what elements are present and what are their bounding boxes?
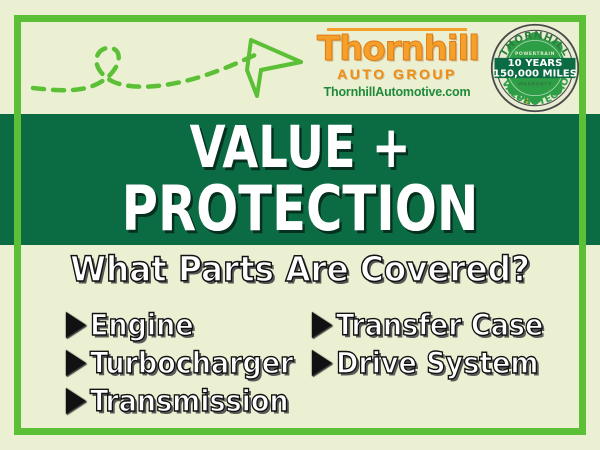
thornhill-logo: Thornhill AUTO GROUP ThornhillAutomotive… — [317, 28, 477, 100]
covered-part-label: Turbocharger — [90, 347, 293, 379]
frame-right-border — [579, 15, 586, 435]
promo-poster: Thornhill AUTO GROUP ThornhillAutomotive… — [0, 0, 600, 450]
triangle-bullet-icon — [68, 314, 85, 336]
title-line-2: PROTECTION — [122, 176, 479, 242]
badge-powertrain-text: POWERTRAIN — [515, 51, 555, 57]
frame-top-border — [14, 15, 586, 22]
covered-parts-column-right: Transfer Case Drive System — [314, 306, 559, 382]
covered-part-label: Transfer Case — [336, 309, 543, 341]
triangle-bullet-icon — [314, 314, 331, 336]
triangle-bullet-icon — [68, 352, 85, 374]
list-item: Drive System — [314, 344, 559, 382]
frame-left-border — [14, 15, 21, 435]
logo-website-url: ThornhillAutomotive.com — [317, 84, 477, 100]
badge-warranty-text: WARRANTY — [518, 81, 552, 87]
triangle-bullet-icon — [68, 390, 85, 412]
list-item: Engine — [68, 306, 309, 344]
subtitle-question: What Parts Are Covered? — [21, 250, 579, 290]
covered-parts-lists: Engine Turbocharger Transmission Transfe… — [30, 306, 570, 426]
poster-header: Thornhill AUTO GROUP ThornhillAutomotive… — [21, 22, 579, 114]
list-item: Transmission — [68, 382, 309, 420]
title-line-1: VALUE + — [190, 118, 411, 176]
badge-miles-text: 150,000 MILES — [493, 68, 577, 79]
covered-part-label: Drive System — [336, 347, 539, 379]
logo-subtitle-text: AUTO GROUP — [317, 66, 477, 82]
poster-title: VALUE + PROTECTION — [0, 114, 600, 245]
covered-part-label: Transmission — [90, 385, 289, 417]
frame-bottom-border — [14, 428, 586, 435]
warranty-seal-badge: THORNHILL VALUE + PROTECTION POWERTRAIN … — [489, 22, 581, 114]
covered-parts-column-left: Engine Turbocharger Transmission — [68, 306, 309, 420]
list-item: Transfer Case — [314, 306, 559, 344]
flight-path-arrow-icon — [29, 26, 309, 112]
triangle-bullet-icon — [314, 352, 331, 374]
list-item: Turbocharger — [68, 344, 309, 382]
covered-part-label: Engine — [90, 309, 194, 341]
logo-brand-text: Thornhill — [317, 32, 477, 66]
